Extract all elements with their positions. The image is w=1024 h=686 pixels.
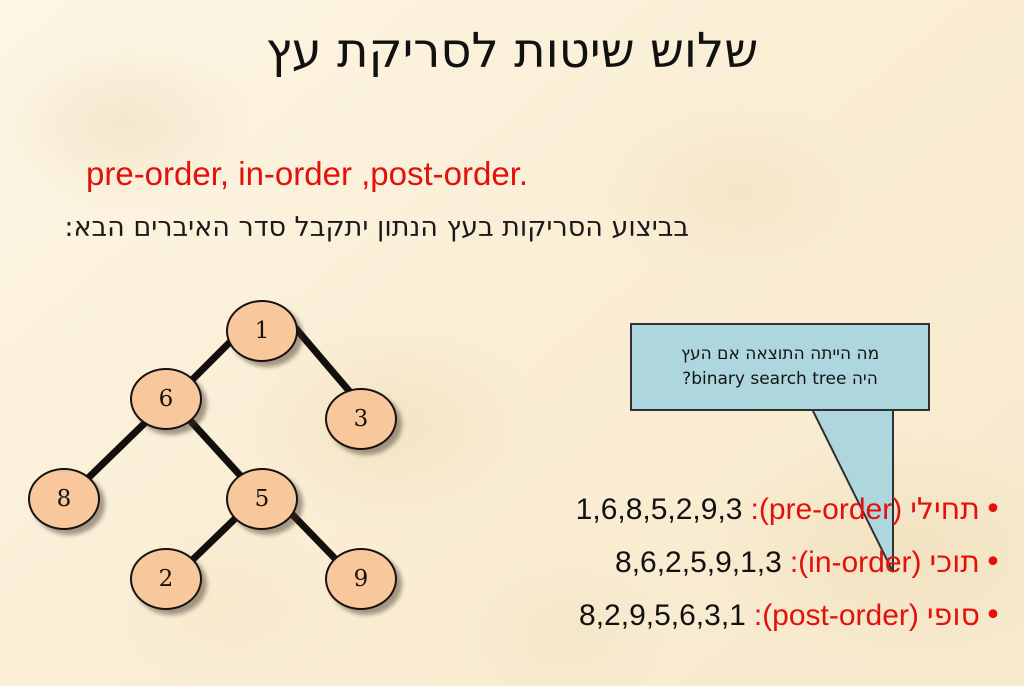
postorder-english-label: (post-order) [762,599,919,633]
list-item-preorder[interactable]: • תחילי (pre-order) : 1,6,8,5,2,9,3 [576,492,1006,545]
tree-node-6[interactable]: 6 [130,368,202,430]
tree-node-5[interactable]: 5 [226,468,298,530]
callout-line-2: היה binary search tree? [682,367,878,392]
bullet-dot-icon: • [980,548,1006,578]
preorder-sequence: 1,6,8,5,2,9,3 [576,493,743,527]
postorder-sequence: 8,2,9,5,6,3,1 [579,599,746,633]
page-title: שלוש שיטות לסריקת עץ [0,22,1024,80]
postorder-hebrew-label: סופי [927,598,980,633]
tree-node-9[interactable]: 9 [325,548,397,610]
bullet-dot-icon: • [980,495,1006,525]
preorder-hebrew-label: תחילי [910,492,980,527]
traversal-result-list: • תחילי (pre-order) : 1,6,8,5,2,9,3 • תו… [576,492,1006,651]
slide-canvas: שלוש שיטות לסריקת עץ pre-order, in-order… [0,0,1024,686]
tree-node-2[interactable]: 2 [130,548,202,610]
callout-bubble[interactable]: מה הייתה התוצאה אם העץ היה binary search… [630,323,930,411]
binary-tree-diagram: 1 6 3 8 5 2 9 [0,280,440,630]
inorder-separator: : [790,546,798,580]
callout-line-1: מה הייתה התוצאה אם העץ [681,342,879,367]
tree-node-8[interactable]: 8 [28,468,100,530]
edge-6-8 [82,416,152,484]
inorder-hebrew-label: תוכי [930,545,980,580]
traversal-methods-line: pre-order, in-order ,post-order. [86,154,528,194]
tree-node-1[interactable]: 1 [226,300,298,362]
edge-root-3 [292,324,350,392]
traversal-description-line: בביצוע הסריקות בעץ הנתון יתקבל סדר האיבר… [64,210,689,246]
list-item-postorder[interactable]: • סופי (post-order) : 8,2,9,5,6,3,1 [576,598,1006,651]
preorder-english-label: (pre-order) [759,493,902,527]
list-item-inorder[interactable]: • תוכי (in-order) : 8,6,2,5,9,1,3 [576,545,1006,598]
inorder-sequence: 8,6,2,5,9,1,3 [615,546,782,580]
tree-node-3[interactable]: 3 [325,388,397,450]
inorder-english-label: (in-order) [798,546,921,580]
bullet-dot-icon: • [980,601,1006,631]
preorder-separator: : [750,493,758,527]
postorder-separator: : [754,599,762,633]
